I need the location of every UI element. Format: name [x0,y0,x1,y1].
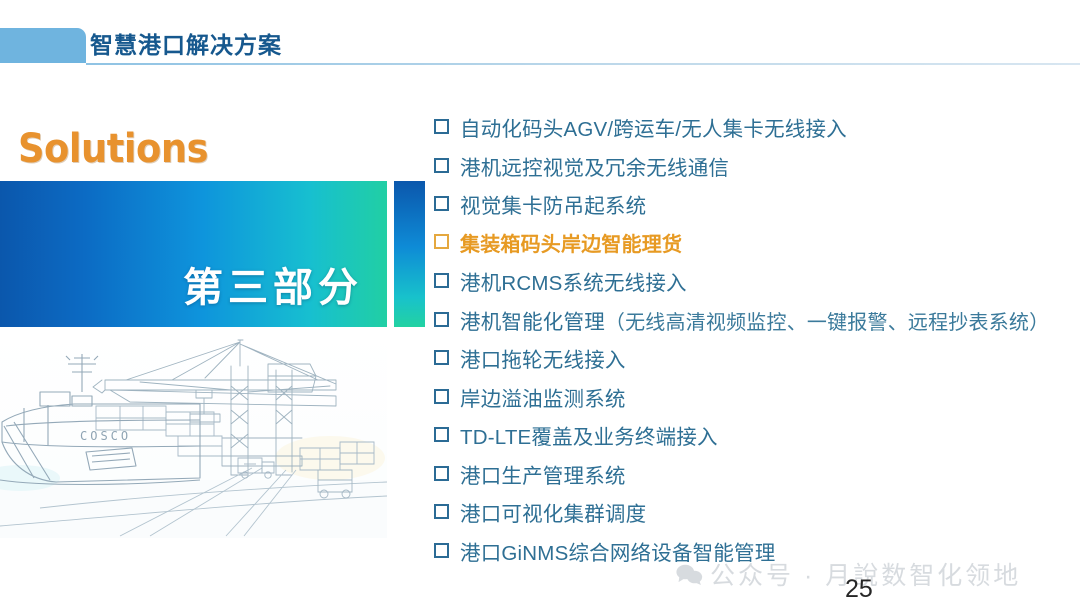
list-item[interactable]: 港机RCMS系统无线接入 [434,266,1074,305]
list-item-label: 港口生产管理系统 [460,459,626,489]
slide-root: 智慧港口解决方案 Solutions 第三部分 [0,0,1080,608]
list-item-label: 港口拖轮无线接入 [460,343,626,373]
section-banner-label: 第三部分 [183,255,363,313]
list-item-label: 港机RCMS系统无线接入 [460,266,687,296]
list-item[interactable]: 视觉集卡防吊起系统 [434,189,1074,228]
hollow-square-bullet-icon [434,427,449,442]
section-label-solutions: Solutions [18,126,208,172]
list-item[interactable]: 自动化码头AGV/跨运车/无人集卡无线接入 [434,112,1074,151]
hollow-square-bullet-icon [434,504,449,519]
hollow-square-bullet-icon [434,273,449,288]
list-item-label: 视觉集卡防吊起系统 [460,189,646,219]
list-item[interactable]: 港机远控视觉及冗余无线通信 [434,151,1074,190]
list-item-highlighted[interactable]: 集装箱码头岸边智能理货 [434,228,1074,267]
page-title: 智慧港口解决方案 [90,28,282,63]
header-tab-shape [0,28,86,63]
wechat-bubble-icon [676,563,703,586]
list-item-note: （无线高清视频监控、一键报警、远程抄表系统） [605,312,1049,334]
list-item-label: 自动化码头AGV/跨运车/无人集卡无线接入 [460,112,847,142]
section-banner: 第三部分 [0,181,387,327]
hollow-square-bullet-icon [434,466,449,481]
hollow-square-bullet-icon [434,234,449,249]
list-item[interactable]: 港口可视化集群调度 [434,497,1074,536]
section-banner-accent-strip [394,181,425,327]
svg-text:COSCO: COSCO [80,429,131,443]
list-item-label: 岸边溢油监测系统 [460,382,626,412]
list-item[interactable]: TD-LTE覆盖及业务终端接入 [434,420,1074,459]
page-number: 25 [845,575,873,604]
list-item-label: TD-LTE覆盖及业务终端接入 [460,420,718,450]
list-item[interactable]: 港机智能化管理（无线高清视频监控、一键报警、远程抄表系统） [434,305,1074,344]
port-container-ship-sketch: COSCO [0,330,387,538]
list-item[interactable]: 岸边溢油监测系统 [434,382,1074,421]
list-item-label: 港机远控视觉及冗余无线通信 [460,151,729,181]
hollow-square-bullet-icon [434,543,449,558]
hollow-square-bullet-icon [434,389,449,404]
hollow-square-bullet-icon [434,119,449,134]
header-divider [86,63,1080,65]
list-item-label: 港机智能化管理（无线高清视频监控、一键报警、远程抄表系统） [460,305,1049,335]
list-item-label: 集装箱码头岸边智能理货 [460,228,682,257]
hollow-square-bullet-icon [434,350,449,365]
list-item[interactable]: 港口生产管理系统 [434,459,1074,498]
solution-bullet-list: 自动化码头AGV/跨运车/无人集卡无线接入 港机远控视觉及冗余无线通信 视觉集卡… [434,112,1074,574]
hollow-square-bullet-icon [434,196,449,211]
list-item-label: 港口可视化集群调度 [460,497,646,527]
list-item[interactable]: 港口拖轮无线接入 [434,343,1074,382]
hollow-square-bullet-icon [434,158,449,173]
hollow-square-bullet-icon [434,312,449,327]
